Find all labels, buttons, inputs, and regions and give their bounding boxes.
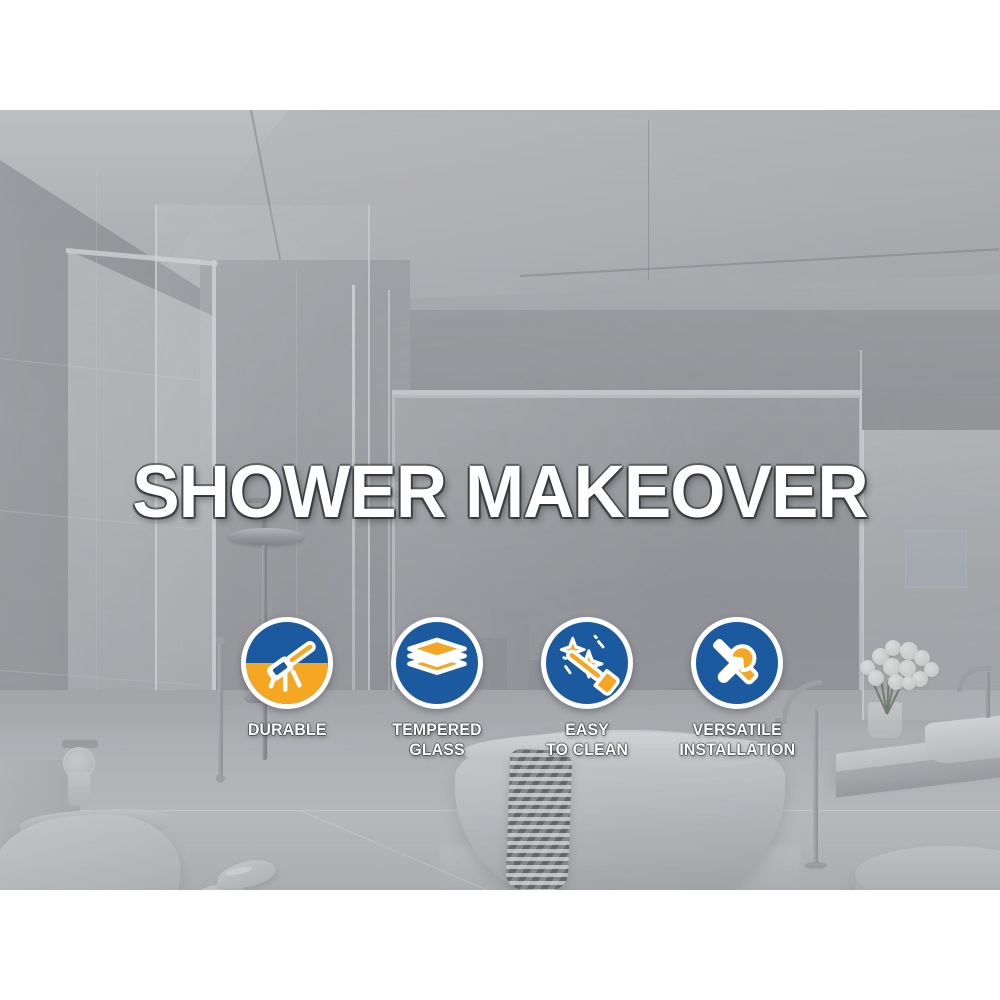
tub-faucet-base bbox=[805, 862, 827, 869]
feature-label: EASY TO CLEAN bbox=[546, 720, 628, 760]
screwdriver-wrench-icon bbox=[691, 617, 783, 709]
feature-label: TEMPERED GLASS bbox=[392, 720, 481, 760]
ceiling-seam bbox=[648, 120, 649, 280]
flower-bouquet bbox=[854, 638, 946, 696]
toilet-paper-sheet bbox=[68, 772, 90, 806]
basin-tap-post bbox=[985, 672, 990, 718]
bottom-white-band bbox=[0, 890, 1000, 1000]
feature-easy-to-clean[interactable]: EASY TO CLEAN bbox=[522, 617, 652, 760]
page-title: SHOWER MAKEOVER bbox=[20, 455, 980, 529]
tub-faucet-post bbox=[813, 710, 818, 865]
feature-durable[interactable]: DURABLE bbox=[222, 617, 352, 740]
feature-label: VERSATILE INSTALLATION bbox=[679, 720, 795, 760]
glass-layers-icon bbox=[391, 617, 483, 709]
top-white-band bbox=[0, 0, 1000, 110]
feature-label: DURABLE bbox=[248, 720, 327, 740]
feature-versatile-installation[interactable]: VERSATILE INSTALLATION bbox=[672, 617, 802, 760]
sparkle-squeegee-icon bbox=[541, 617, 633, 709]
feature-badge-row: DURABLE TEMPERED GLASS bbox=[222, 617, 802, 782]
feature-tempered-glass[interactable]: TEMPERED GLASS bbox=[372, 617, 502, 760]
product-banner: SHOWER MAKEOVER bbox=[0, 0, 1000, 1000]
squeegee-icon bbox=[241, 617, 333, 709]
mirror-reflection-tile bbox=[905, 530, 967, 588]
